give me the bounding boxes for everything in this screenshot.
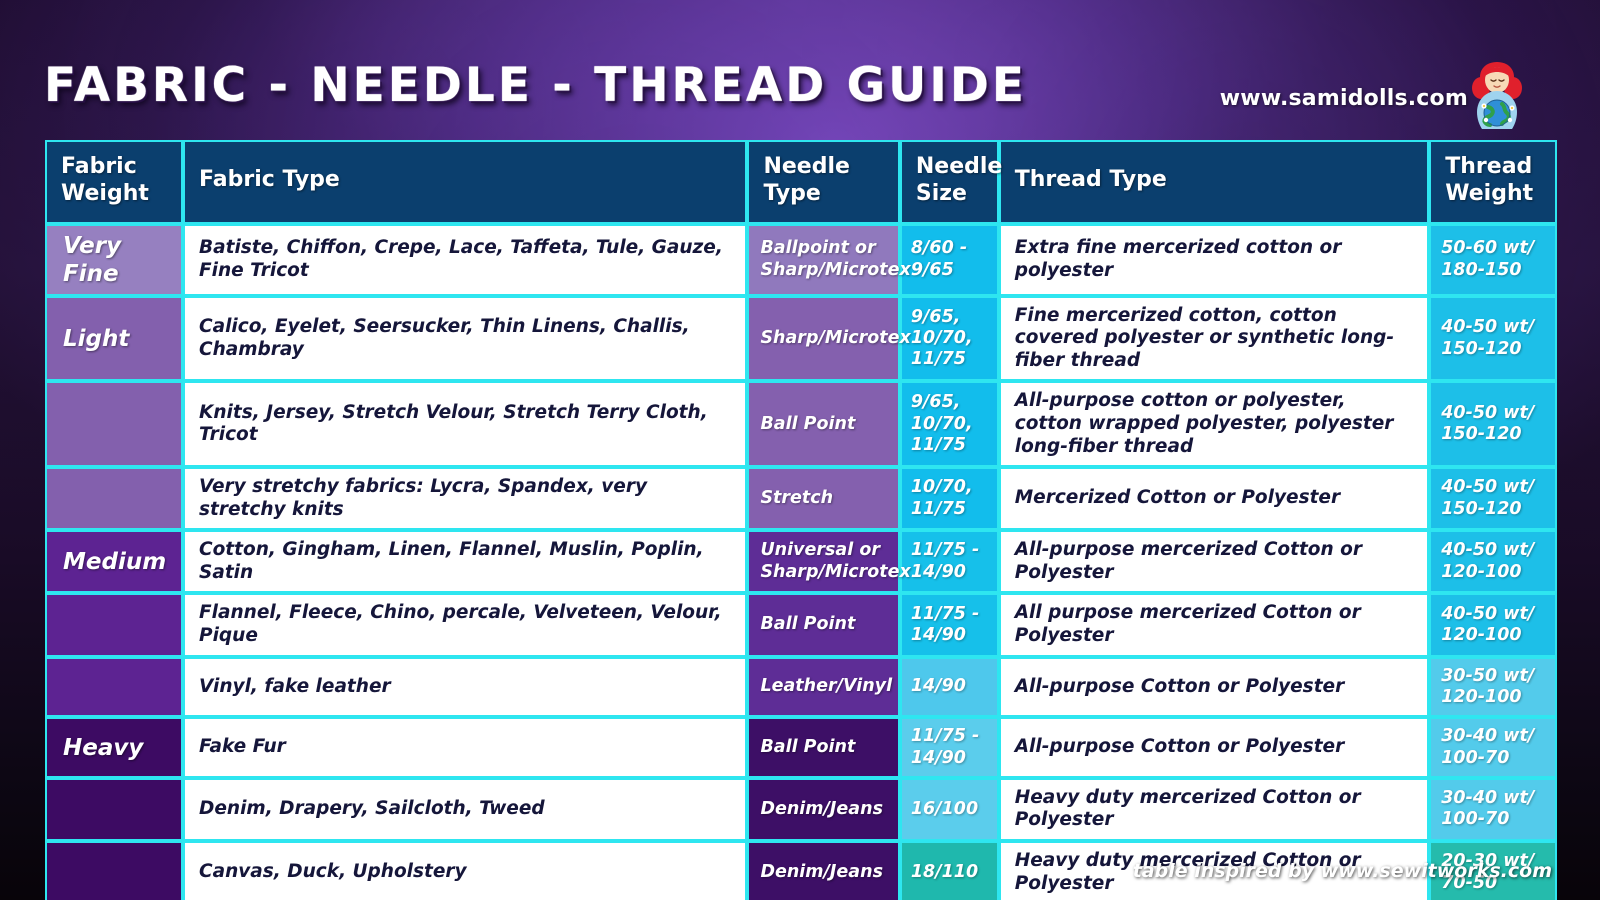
cell-needle-size: 10/70, 11/75: [900, 467, 999, 530]
cell-fabric-weight: [45, 381, 183, 467]
table-row: MediumCotton, Gingham, Linen, Flannel, M…: [45, 530, 1557, 593]
table-row: Very stretchy fabrics: Lycra, Spandex, v…: [45, 467, 1557, 530]
cell-needle-type: Ball Point: [747, 381, 899, 467]
table-row: Very FineBatiste, Chiffon, Crepe, Lace, …: [45, 224, 1557, 296]
table-row: Vinyl, fake leatherLeather/Vinyl14/90All…: [45, 657, 1557, 718]
column-header-thread-weight: Thread Weight: [1429, 140, 1557, 224]
cell-needle-size: 9/65, 10/70, 11/75: [900, 296, 999, 382]
cell-needle-type: Sharp/Microtex: [747, 296, 899, 382]
cell-thread-weight: 40-50 wt/ 150-120: [1429, 296, 1557, 382]
cell-thread-weight: 40-50 wt/ 150-120: [1429, 467, 1557, 530]
cell-fabric-weight: Heavy: [45, 717, 183, 778]
cell-thread-type: Extra fine mercerized cotton or polyeste…: [999, 224, 1430, 296]
cell-fabric-type: Cotton, Gingham, Linen, Flannel, Muslin,…: [183, 530, 747, 593]
table-body: Very FineBatiste, Chiffon, Crepe, Lace, …: [45, 224, 1557, 900]
column-header-needle-type: Needle Type: [747, 140, 899, 224]
table-row: Knits, Jersey, Stretch Velour, Stretch T…: [45, 381, 1557, 467]
cell-thread-type: Mercerized Cotton or Polyester: [999, 467, 1430, 530]
cell-fabric-weight: [45, 657, 183, 718]
poster-root: FABRIC - NEEDLE - THREAD GUIDE www.samid…: [0, 0, 1600, 900]
cell-thread-type: Heavy duty mercerized Cotton or Polyeste…: [999, 778, 1430, 841]
cell-fabric-weight: Medium: [45, 530, 183, 593]
cell-needle-type: Denim/Jeans: [747, 841, 899, 900]
cell-needle-size: 11/75 - 14/90: [900, 530, 999, 593]
cell-thread-weight: 40-50 wt/ 120-100: [1429, 593, 1557, 656]
cell-fabric-type: Vinyl, fake leather: [183, 657, 747, 718]
cell-fabric-weight: [45, 593, 183, 656]
column-header-fabric-type: Fabric Type: [183, 140, 747, 224]
cell-needle-type: Stretch: [747, 467, 899, 530]
cell-needle-type: Ball Point: [747, 593, 899, 656]
cell-fabric-type: Knits, Jersey, Stretch Velour, Stretch T…: [183, 381, 747, 467]
cell-fabric-type: Flannel, Fleece, Chino, percale, Velvete…: [183, 593, 747, 656]
cell-thread-type: All-purpose Cotton or Polyester: [999, 717, 1430, 778]
cell-thread-type: All-purpose mercerized Cotton or Polyest…: [999, 530, 1430, 593]
cell-fabric-type: Batiste, Chiffon, Crepe, Lace, Taffeta, …: [183, 224, 747, 296]
cell-needle-size: 18/110: [900, 841, 999, 900]
cell-needle-size: 11/75 - 14/90: [900, 593, 999, 656]
cell-fabric-weight: Light: [45, 296, 183, 382]
cell-thread-weight: 30-40 wt/ 100-70: [1429, 778, 1557, 841]
table-row: HeavyFake FurBall Point11/75 - 14/90All-…: [45, 717, 1557, 778]
cell-thread-weight: 50-60 wt/ 180-150: [1429, 224, 1557, 296]
cell-needle-type: Ball Point: [747, 717, 899, 778]
table-header: Fabric Weight Fabric Type Needle Type Ne…: [45, 140, 1557, 224]
cell-needle-size: 11/75 - 14/90: [900, 717, 999, 778]
cell-thread-type: All-purpose cotton or polyester, cotton …: [999, 381, 1430, 467]
table-row: Flannel, Fleece, Chino, percale, Velvete…: [45, 593, 1557, 656]
cell-thread-weight: 40-50 wt/ 120-100: [1429, 530, 1557, 593]
cell-thread-type: All purpose mercerized Cotton or Polyest…: [999, 593, 1430, 656]
cell-fabric-weight: Very Fine: [45, 224, 183, 296]
cell-fabric-type: Canvas, Duck, Upholstery: [183, 841, 747, 900]
site-url-label: www.samidolls.com: [1220, 86, 1468, 111]
cell-needle-type: Universal or Sharp/Microtex: [747, 530, 899, 593]
cell-thread-weight: 40-50 wt/ 150-120: [1429, 381, 1557, 467]
cell-thread-type: All-purpose Cotton or Polyester: [999, 657, 1430, 718]
cell-fabric-type: Denim, Drapery, Sailcloth, Tweed: [183, 778, 747, 841]
cell-fabric-weight: [45, 778, 183, 841]
credit-label: table inspired by www.sewitworks.com: [1133, 860, 1552, 882]
table-row: Denim, Drapery, Sailcloth, TweedDenim/Je…: [45, 778, 1557, 841]
column-header-needle-size: Needle Size: [900, 140, 999, 224]
cell-needle-size: 8/60 - 9/65: [900, 224, 999, 296]
cell-needle-size: 16/100: [900, 778, 999, 841]
cell-needle-type: Denim/Jeans: [747, 778, 899, 841]
cell-thread-weight: 30-50 wt/ 120-100: [1429, 657, 1557, 718]
cell-fabric-type: Calico, Eyelet, Seersucker, Thin Linens,…: [183, 296, 747, 382]
table-header-row: Fabric Weight Fabric Type Needle Type Ne…: [45, 140, 1557, 224]
cell-needle-size: 14/90: [900, 657, 999, 718]
column-header-fabric-weight: Fabric Weight: [45, 140, 183, 224]
table-row: LightCalico, Eyelet, Seersucker, Thin Li…: [45, 296, 1557, 382]
page-title: FABRIC - NEEDLE - THREAD GUIDE: [44, 62, 1027, 109]
cell-fabric-weight: [45, 467, 183, 530]
poster-header: FABRIC - NEEDLE - THREAD GUIDE www.samid…: [0, 0, 1600, 136]
cell-needle-size: 9/65, 10/70, 11/75: [900, 381, 999, 467]
cell-needle-type: Ballpoint or Sharp/Microtex: [747, 224, 899, 296]
cell-fabric-type: Very stretchy fabrics: Lycra, Spandex, v…: [183, 467, 747, 530]
cell-needle-type: Leather/Vinyl: [747, 657, 899, 718]
fabric-needle-thread-table: Fabric Weight Fabric Type Needle Type Ne…: [45, 140, 1557, 900]
cell-thread-type: Fine mercerized cotton, cotton covered p…: [999, 296, 1430, 382]
cell-thread-weight: 30-40 wt/ 100-70: [1429, 717, 1557, 778]
matryoshka-doll-globe-icon: [1468, 58, 1526, 130]
column-header-thread-type: Thread Type: [999, 140, 1430, 224]
cell-fabric-weight: [45, 841, 183, 900]
cell-fabric-type: Fake Fur: [183, 717, 747, 778]
